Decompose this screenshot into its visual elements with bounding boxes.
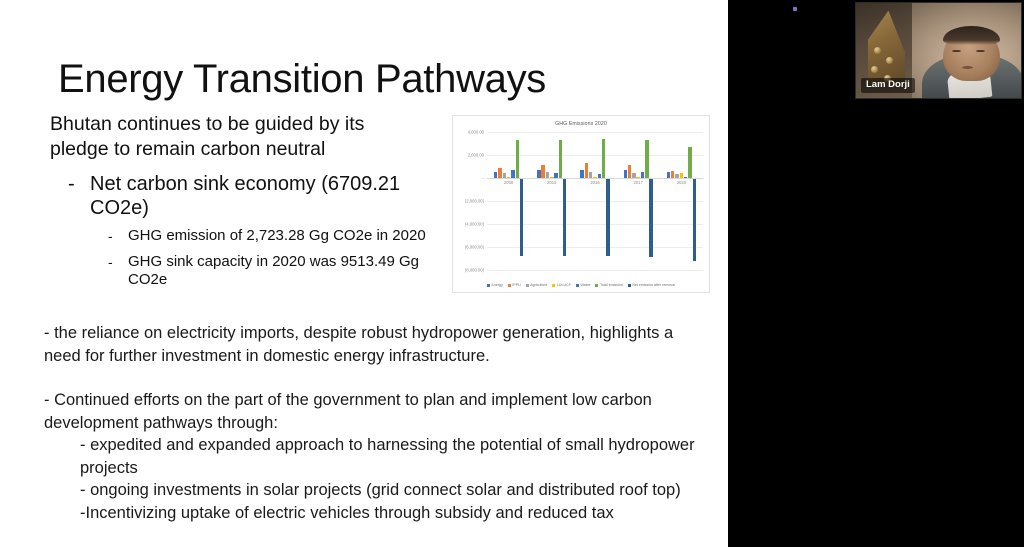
chart-legend-swatch-icon [595, 284, 598, 287]
chart-y-tick-label: (4,000.00) [465, 222, 484, 227]
chart-plot-area: 4,000.002,000.00-(2,000.00)(4,000.00)(6,… [487, 132, 703, 270]
bullet-level1-text: Net carbon sink economy (6709.21 CO2e) [90, 173, 400, 219]
ghg-emissions-chart: GHG Emissions 2020 4,000.002,000.00-(2,0… [452, 115, 710, 293]
chart-bar [541, 165, 544, 178]
chart-y-tick-label: - [483, 176, 484, 181]
shrine-dot-icon [871, 66, 878, 73]
chart-zero-axis [487, 178, 703, 179]
chart-gridline [487, 270, 703, 271]
chart-legend-item: IPPU [508, 283, 521, 287]
chart-legend-swatch-icon [526, 284, 529, 287]
bullet-level2: - GHG emission of 2,723.28 Gg CO2e in 20… [108, 227, 458, 246]
chart-gridline [487, 155, 703, 156]
chart-legend-swatch-icon [628, 284, 631, 287]
chart-bar [602, 139, 605, 178]
chart-y-tick-label: (6,000.00) [465, 245, 484, 250]
chart-x-tick-label: 2020 [677, 180, 686, 185]
chart-legend: EnergyIPPUAgricultureLULUCFWasteTotal em… [453, 283, 709, 287]
chart-x-tick-label: 2017 [634, 180, 643, 185]
chart-legend-item: Net emission after removal [628, 283, 675, 287]
cursor-marker-icon [793, 7, 797, 11]
chart-x-tick-label: 2016 [590, 180, 599, 185]
chart-legend-label: Agriculture [530, 283, 547, 287]
slide-bottom-column: - the reliance on electricity imports, d… [44, 322, 709, 524]
chart-y-tick-label: 4,000.00 [468, 130, 484, 135]
chart-bar [624, 170, 627, 178]
chart-bar [688, 147, 691, 178]
bullet-dash: - [108, 227, 113, 246]
chart-legend-label: Total emission [600, 283, 623, 287]
chart-bar [498, 168, 501, 178]
chart-bar [516, 140, 519, 178]
chart-legend-label: LULUCF [557, 283, 571, 287]
chart-bar [628, 165, 631, 178]
chart-x-tick-label: 2000 [504, 180, 513, 185]
chart-bar [520, 178, 523, 256]
page-title: Energy Transition Pathways [58, 55, 546, 103]
chart-legend-item: Agriculture [526, 283, 548, 287]
paragraph-low-carbon-pathways: - Continued efforts on the part of the g… [44, 389, 709, 434]
chart-x-tick-label: 2015 [547, 180, 556, 185]
chart-bar [671, 171, 674, 178]
bullet-level2: - GHG sink capacity in 2020 was 9513.49 … [108, 253, 458, 290]
paragraph-electricity-imports: - the reliance on electricity imports, d… [44, 322, 709, 367]
bullet-level2-text: GHG sink capacity in 2020 was 9513.49 Gg… [128, 253, 419, 289]
chart-legend-item: LULUCF [552, 283, 570, 287]
chart-bar [580, 170, 583, 178]
sub-paragraph-ev: -Incentivizing uptake of electric vehicl… [80, 502, 709, 525]
chart-y-tick-label: 2,000.00 [468, 153, 484, 158]
chart-bar [537, 170, 540, 178]
chart-legend-swatch-icon [552, 284, 555, 287]
bullet-dash: - [108, 253, 113, 272]
chart-title: GHG Emissions 2020 [453, 121, 709, 127]
sub-paragraph-hydropower: - expedited and expanded approach to har… [80, 434, 709, 479]
slide-body-column: Bhutan continues to be guided by its ple… [50, 112, 450, 290]
chart-y-tick-label: (2,000.00) [465, 199, 484, 204]
chart-bar [563, 178, 566, 256]
chart-gridline [487, 132, 703, 133]
chart-bar [511, 170, 514, 179]
chart-bar [606, 178, 609, 256]
chart-bar [649, 178, 652, 257]
slide-lead-text: Bhutan continues to be guided by its ple… [50, 112, 422, 162]
participant-name-label: Lam Dorji [861, 78, 915, 93]
chart-legend-item: Energy [487, 283, 503, 287]
bullet-level1: - Net carbon sink economy (6709.21 CO2e) [68, 172, 460, 220]
shrine-dot-icon [886, 57, 893, 64]
chart-legend-swatch-icon [508, 284, 511, 287]
shared-slide: Energy Transition Pathways Bhutan contin… [0, 0, 728, 547]
chart-legend-label: Energy [491, 283, 502, 287]
chart-legend-label: IPPU [512, 283, 520, 287]
chart-legend-swatch-icon [576, 284, 579, 287]
chart-legend-label: Waste [580, 283, 590, 287]
bullet-level2-text: GHG emission of 2,723.28 Gg CO2e in 2020 [128, 227, 426, 244]
chart-y-tick-label: (8,000.00) [465, 268, 484, 273]
bullet-dash: - [68, 172, 75, 196]
chart-legend-item: Waste [576, 283, 591, 287]
chart-legend-swatch-icon [487, 284, 490, 287]
video-tile-lam-dorji[interactable]: Lam Dorji [855, 2, 1022, 99]
participant-eye-left [952, 50, 961, 53]
shrine-dot-icon [874, 47, 881, 54]
participant-mouth [962, 66, 973, 69]
chart-bar [645, 140, 648, 178]
chart-legend-label: Net emission after removal [632, 283, 675, 287]
chart-bar [559, 140, 562, 178]
meeting-screen: Energy Transition Pathways Bhutan contin… [0, 0, 1024, 547]
chart-bar [693, 178, 696, 261]
chart-bar [585, 163, 588, 178]
sub-paragraph-solar: - ongoing investments in solar projects … [80, 479, 709, 502]
chart-legend-item: Total emission [595, 283, 622, 287]
